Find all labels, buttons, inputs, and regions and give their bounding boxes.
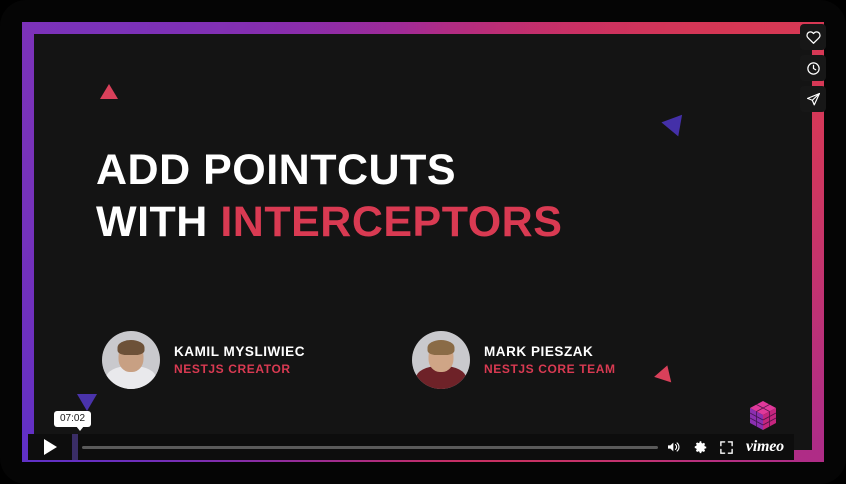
heart-icon <box>806 30 821 45</box>
progress-track <box>82 446 658 449</box>
player-control-bar: 07:02 <box>28 434 794 460</box>
play-icon <box>44 439 57 455</box>
presenter-role: NESTJS CREATOR <box>174 361 305 377</box>
triangle-red-top-icon <box>100 84 118 99</box>
video-player: ADD POINTCUTS WITH INTERCEPTORS KAMIL MY… <box>0 0 846 484</box>
presenter-name: MARK PIESZAK <box>484 343 616 361</box>
avatar-hair <box>118 340 145 355</box>
watch-later-button[interactable] <box>800 55 826 81</box>
share-button[interactable] <box>800 86 826 112</box>
fullscreen-icon <box>719 440 734 455</box>
slide-title: ADD POINTCUTS WITH INTERCEPTORS <box>96 144 562 249</box>
title-line-2-accent: INTERCEPTORS <box>220 198 562 246</box>
avatar-hair <box>428 340 455 355</box>
share-icon <box>806 92 821 107</box>
presenter-text: KAMIL MYSLIWIEC NESTJS CREATOR <box>174 343 305 377</box>
control-bar-right-group: vimeo <box>666 438 794 456</box>
avatar <box>102 331 160 389</box>
clock-icon <box>806 61 821 76</box>
play-button[interactable] <box>28 434 72 460</box>
progress-bar[interactable]: 07:02 <box>72 434 658 460</box>
fullscreen-button[interactable] <box>719 440 734 455</box>
progress-scrubber[interactable]: 07:02 <box>72 434 78 460</box>
triangle-blue-bottom-icon <box>77 394 97 411</box>
title-line-2-plain: WITH <box>96 198 220 246</box>
presenter-text: MARK PIESZAK NESTJS CORE TEAM <box>484 343 616 377</box>
presenter-item: KAMIL MYSLIWIEC NESTJS CREATOR <box>102 331 305 389</box>
time-tooltip: 07:02 <box>54 411 91 427</box>
avatar <box>412 331 470 389</box>
gear-icon <box>693 440 708 455</box>
vimeo-logo[interactable]: vimeo <box>746 438 784 456</box>
settings-button[interactable] <box>693 440 708 455</box>
volume-icon <box>666 439 682 455</box>
title-line-2: WITH INTERCEPTORS <box>96 196 562 248</box>
presenter-list: KAMIL MYSLIWIEC NESTJS CREATOR MARK PIES… <box>102 331 616 389</box>
triangle-blue-right-icon <box>661 115 688 140</box>
presenter-item: MARK PIESZAK NESTJS CORE TEAM <box>412 331 616 389</box>
presenter-name: KAMIL MYSLIWIEC <box>174 343 305 361</box>
volume-button[interactable] <box>666 439 682 455</box>
title-line-1: ADD POINTCUTS <box>96 144 562 196</box>
presenter-role: NESTJS CORE TEAM <box>484 361 616 377</box>
video-stage[interactable]: ADD POINTCUTS WITH INTERCEPTORS KAMIL MY… <box>34 34 812 450</box>
action-button-group <box>800 24 826 112</box>
like-button[interactable] <box>800 24 826 50</box>
nestjs-cube-logo-icon <box>747 399 779 437</box>
triangle-red-bottom-icon <box>654 363 676 383</box>
